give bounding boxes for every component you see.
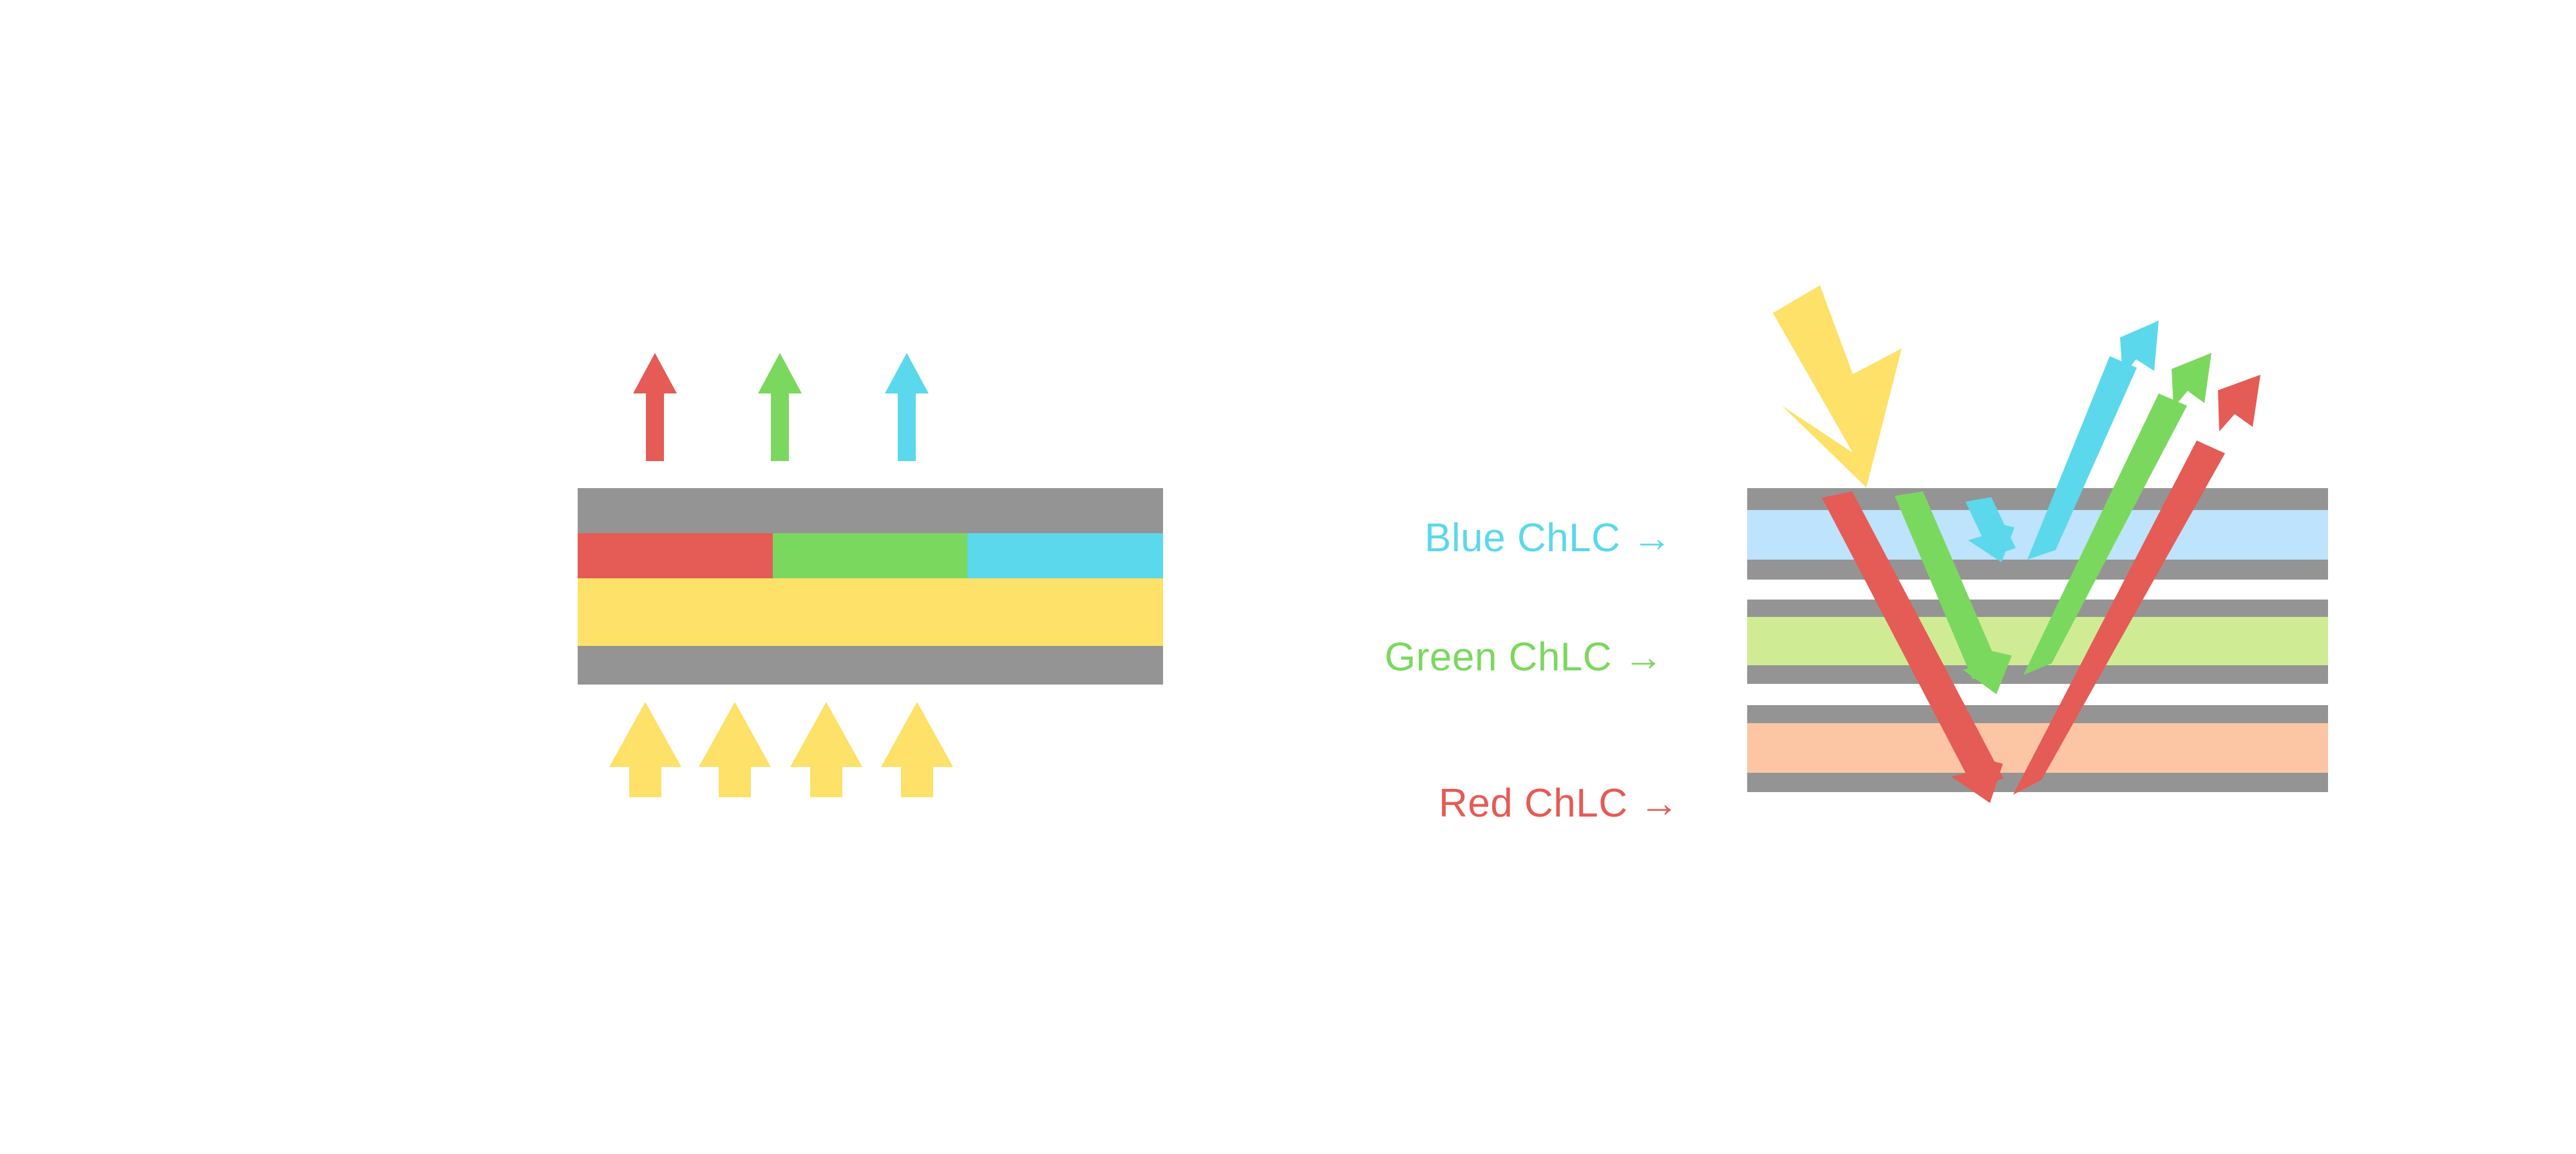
backlight-arrow-4 <box>881 702 953 797</box>
diagram-canvas: Blue ChLC→ Green ChLC→ Red ChLC→ <box>0 0 2576 1154</box>
left-top-electrode <box>578 488 1163 533</box>
green-cell-top-electrode <box>1747 600 2328 617</box>
green-chlc-cell <box>1747 600 2328 684</box>
emitted-cyan-arrow <box>885 353 929 461</box>
incident-yellow-beam-arrow <box>1773 285 1902 487</box>
backlight-arrow-1 <box>609 702 681 797</box>
left-bottom-electrode <box>578 646 1163 685</box>
red-chlc-pointer-arrow-icon: → <box>1639 781 1680 826</box>
left-backlight-layer <box>578 578 1163 646</box>
right-panel-reflective-stack <box>1320 0 2576 1154</box>
backlight-arrow-2 <box>699 702 771 797</box>
left-panel-svg <box>0 0 1352 1154</box>
green-chlc-label-group: Green ChLC→ <box>1385 634 1664 680</box>
left-color-filter-green <box>773 533 967 578</box>
blue-cell-bottom-electrode <box>1747 560 2328 580</box>
right-panel-svg <box>1320 0 2576 1154</box>
backlight-source-arrows <box>609 702 953 797</box>
blue-chlc-label-text: Blue ChLC <box>1425 516 1620 560</box>
left-color-filter-red <box>578 533 773 578</box>
blue-chlc-pointer-arrow-icon: → <box>1632 516 1672 560</box>
red-chlc-label-text: Red ChLC <box>1439 781 1627 826</box>
emitted-green-arrow <box>758 353 802 461</box>
left-stack-layers <box>578 488 1163 685</box>
emitted-red-arrow <box>633 353 677 461</box>
backlight-arrow-3 <box>790 702 862 797</box>
red-chlc-label-group: Red ChLC→ <box>1439 780 1680 826</box>
blue-chlc-label-group: Blue ChLC→ <box>1425 515 1672 561</box>
red-cell-top-electrode <box>1747 705 2328 723</box>
green-chlc-label-text: Green ChLC <box>1385 635 1612 679</box>
left-panel-emissive-stack <box>0 0 1352 1154</box>
green-chlc-pointer-arrow-icon: → <box>1624 635 1664 679</box>
left-color-filter-blue <box>967 533 1163 578</box>
